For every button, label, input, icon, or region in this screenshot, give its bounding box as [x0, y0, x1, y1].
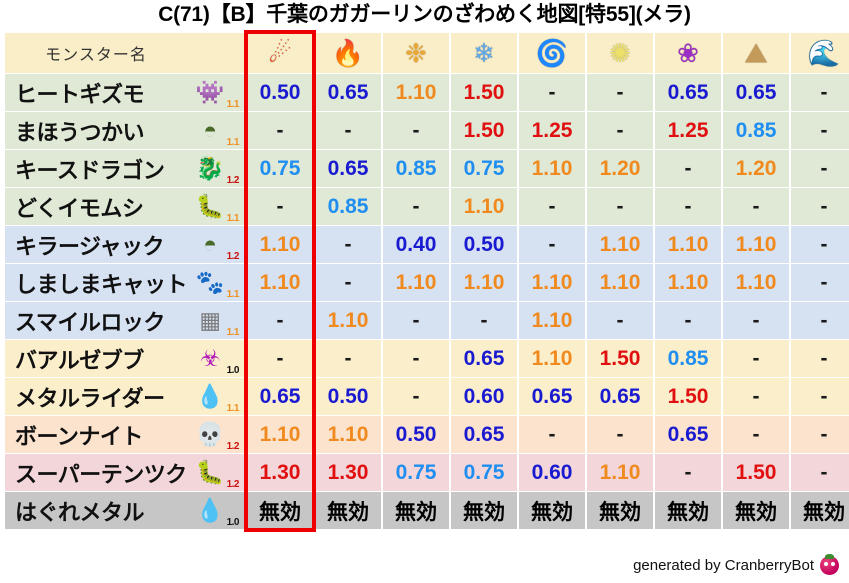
resistance-cell: 0.65: [315, 74, 381, 111]
resistance-cell: 1.25: [655, 112, 721, 149]
resistance-cell: -: [315, 226, 381, 263]
resistance-cell: 1.20: [723, 150, 789, 187]
resistance-cell: 1.10: [723, 264, 789, 301]
resistance-cell: 0.75: [383, 454, 449, 491]
resistance-cell: -: [519, 416, 585, 453]
resistance-cell: -: [791, 112, 849, 149]
resistance-cell: 1.10: [247, 416, 313, 453]
resistance-cell: 0.85: [315, 188, 381, 225]
resistance-cell: -: [791, 454, 849, 491]
resistance-cell: -: [247, 112, 313, 149]
resistance-cell: 1.30: [315, 454, 381, 491]
resistance-cell: -: [383, 378, 449, 415]
resistance-cell: -: [655, 188, 721, 225]
resistance-cell: 0.75: [247, 150, 313, 187]
resistance-cell: -: [655, 150, 721, 187]
resistance-cell: 1.50: [587, 340, 653, 377]
element-header-io[interactable]: ❉: [383, 33, 449, 73]
resistance-cell: 0.65: [519, 378, 585, 415]
footer: generated by CranberryBot: [633, 556, 839, 575]
resistance-cell: -: [383, 302, 449, 339]
monster-name-cell[interactable]: はぐれメタル💧1.0: [5, 492, 245, 529]
monster-multiplier: 1.0: [227, 518, 239, 528]
monster-name-cell[interactable]: メタルライダー💧1.1: [5, 378, 245, 415]
resistance-cell: 0.50: [451, 226, 517, 263]
resistance-cell: 無効: [383, 492, 449, 529]
resistance-cell: 1.10: [315, 302, 381, 339]
resistance-cell: -: [791, 302, 849, 339]
lightning-icon: ✺: [603, 36, 637, 70]
resistance-cell: 1.50: [655, 378, 721, 415]
explosion-icon: ❉: [399, 36, 433, 70]
resistance-cell: 1.10: [247, 226, 313, 263]
resistance-cell: 1.10: [451, 188, 517, 225]
monster-icon-box: 💀1.2: [193, 416, 239, 453]
resistance-cell: 0.65: [247, 378, 313, 415]
element-header-dein[interactable]: ✺: [587, 33, 653, 73]
resistance-cell: -: [655, 302, 721, 339]
table-row[interactable]: スーパーテンツク🐛1.21.301.300.750.750.601.10-1.5…: [5, 454, 849, 491]
resistance-cell: -: [655, 454, 721, 491]
resistance-cell: 0.65: [655, 74, 721, 111]
table-row[interactable]: バアルゼブブ☣1.0---0.651.101.500.85--: [5, 340, 849, 377]
resistance-cell: 0.40: [383, 226, 449, 263]
monster-icon-box: 👾1.1: [193, 74, 239, 111]
resistance-cell: 0.65: [723, 74, 789, 111]
element-header-jiba[interactable]: ⛰: [723, 33, 789, 73]
pawprint-icon: 🐾: [195, 267, 225, 297]
resistance-cell: 1.10: [383, 264, 449, 301]
table-header: モンスター名 ☄🔥❉❄🌀✺❀⛰🌊: [5, 33, 849, 73]
resistance-table-wrap: モンスター名 ☄🔥❉❄🌀✺❀⛰🌊 ヒートギズモ👾1.10.500.651.101…: [0, 32, 849, 530]
monster-multiplier: 1.1: [227, 404, 239, 414]
resistance-cell: -: [315, 112, 381, 149]
monster-icon-box: 💧1.1: [193, 378, 239, 415]
resistance-table: モンスター名 ☄🔥❉❄🌀✺❀⛰🌊 ヒートギズモ👾1.10.500.651.101…: [3, 32, 849, 530]
table-row[interactable]: はぐれメタル💧1.0無効無効無効無効無効無効無効無効無効: [5, 492, 849, 529]
monster-icon-box: ◓1.2: [193, 226, 239, 263]
monster-name-cell[interactable]: ヒートギズモ👾1.1: [5, 74, 245, 111]
monster-name-label: まほうつかい: [15, 115, 144, 147]
caterpillar-icon: 🐛: [195, 191, 225, 221]
caterpillar-icon: 🐛: [195, 457, 225, 487]
monster-name-label: ボーンナイト: [15, 419, 143, 451]
resistance-cell: 0.50: [247, 74, 313, 111]
table-row[interactable]: スマイルロック▦1.1-1.10--1.10----: [5, 302, 849, 339]
monster-name-cell[interactable]: しましまキャット🐾1.1: [5, 264, 245, 301]
monster-icon-box: 🐾1.1: [193, 264, 239, 301]
monster-name-label: スーパーテンツク: [15, 457, 187, 489]
resistance-cell: 無効: [791, 492, 849, 529]
monster-icon-box: 💧1.0: [193, 492, 239, 529]
resistance-cell: -: [519, 188, 585, 225]
dragon-icon: 🐉: [195, 153, 225, 183]
monster-name-label: スマイルロック: [15, 305, 165, 337]
monster-multiplier: 1.1: [227, 290, 239, 300]
monster-multiplier: 1.0: [227, 366, 239, 376]
monster-name-header: モンスター名: [5, 33, 245, 73]
resistance-cell: -: [315, 340, 381, 377]
resistance-cell: 0.65: [451, 340, 517, 377]
monster-multiplier: 1.1: [227, 100, 239, 110]
resistance-cell: 1.10: [451, 264, 517, 301]
resistance-cell: 0.85: [723, 112, 789, 149]
resistance-cell: -: [791, 74, 849, 111]
monster-name-label: どくイモムシ: [15, 191, 143, 223]
resistance-cell: 1.10: [723, 226, 789, 263]
resistance-cell: -: [383, 340, 449, 377]
resistance-cell: -: [587, 112, 653, 149]
darkflower-icon: ❀: [671, 36, 705, 70]
resistance-cell: -: [791, 150, 849, 187]
monster-name-cell[interactable]: ボーンナイト💀1.2: [5, 416, 245, 453]
table-row[interactable]: キラージャック◓1.21.10-0.400.50-1.101.101.10-: [5, 226, 849, 263]
resistance-cell: -: [383, 112, 449, 149]
resistance-cell: 1.10: [519, 340, 585, 377]
footer-text: generated by CranberryBot: [633, 557, 814, 574]
resistance-cell: -: [791, 416, 849, 453]
element-header-gira[interactable]: 🔥: [315, 33, 381, 73]
monster-icon-box: ▦1.1: [193, 302, 239, 339]
monster-icon-box: 🐛1.2: [193, 454, 239, 491]
skull-icon: 💀: [195, 419, 225, 449]
element-header-hyado[interactable]: ❄: [451, 33, 517, 73]
monster-name-label: キースドラゴン: [15, 153, 164, 185]
blue-slime-icon: 💧: [195, 495, 225, 525]
resistance-cell: -: [587, 188, 653, 225]
resistance-cell: 0.75: [451, 150, 517, 187]
monster-multiplier: 1.1: [227, 138, 239, 148]
element-header-mera[interactable]: ☄: [247, 33, 313, 73]
table-row[interactable]: しましまキャット🐾1.11.10-1.101.101.101.101.101.1…: [5, 264, 849, 301]
table-row[interactable]: どくイモムシ🐛1.1-0.85-1.10-----: [5, 188, 849, 225]
element-header-zeta[interactable]: 🌊: [791, 33, 849, 73]
resistance-cell: 無効: [247, 492, 313, 529]
resistance-cell: 0.60: [451, 378, 517, 415]
monster-icon-box: ◓1.1: [193, 112, 239, 149]
resistance-cell: 1.10: [655, 264, 721, 301]
demon-icon: ☣: [195, 343, 225, 373]
resistance-cell: -: [791, 188, 849, 225]
monster-icon-box: ☣1.0: [193, 340, 239, 377]
resistance-cell: 無効: [587, 492, 653, 529]
resistance-cell: 0.65: [655, 416, 721, 453]
table-row[interactable]: キースドラゴン🐉1.20.750.650.850.751.101.20-1.20…: [5, 150, 849, 187]
monster-name-label: バアルゼブブ: [15, 343, 144, 375]
monster-name-cell[interactable]: どくイモムシ🐛1.1: [5, 188, 245, 225]
resistance-cell: -: [723, 416, 789, 453]
monster-name-cell[interactable]: キラージャック◓1.2: [5, 226, 245, 263]
monster-name-cell[interactable]: キースドラゴン🐉1.2: [5, 150, 245, 187]
monster-multiplier: 1.2: [227, 176, 239, 186]
earth-icon: ⛰: [739, 36, 773, 70]
resistance-cell: 0.50: [315, 378, 381, 415]
resistance-cell: 無効: [315, 492, 381, 529]
element-header-bagi[interactable]: 🌀: [519, 33, 585, 73]
monster-name-cell[interactable]: バアルゼブブ☣1.0: [5, 340, 245, 377]
monster-multiplier: 1.2: [227, 442, 239, 452]
resistance-cell: 1.10: [587, 264, 653, 301]
table-row[interactable]: メタルライダー💧1.10.650.50-0.600.650.651.50--: [5, 378, 849, 415]
resistance-cell: -: [791, 378, 849, 415]
page-title: C(71)【B】千葉のガガーリンのざわめく地図[特55](メラ): [0, 0, 849, 32]
resistance-cell: 1.20: [587, 150, 653, 187]
resistance-cell: 0.85: [655, 340, 721, 377]
blue-slime-icon: 💧: [195, 381, 225, 411]
wave-icon: 🌊: [807, 36, 841, 70]
monster-icon-box: 🐉1.2: [193, 150, 239, 187]
monster-name-label: キラージャック: [15, 229, 164, 261]
resistance-cell: 0.65: [587, 378, 653, 415]
resistance-cell: -: [791, 264, 849, 301]
monster-multiplier: 1.2: [227, 252, 239, 262]
resistance-cell: 無効: [655, 492, 721, 529]
monster-name-cell[interactable]: スーパーテンツク🐛1.2: [5, 454, 245, 491]
monster-name-label: メタルライダー: [15, 381, 165, 413]
resistance-cell: -: [519, 74, 585, 111]
resistance-cell: -: [383, 188, 449, 225]
tornado-icon: 🌀: [535, 36, 569, 70]
resistance-cell: -: [247, 340, 313, 377]
element-header-dorума[interactable]: ❀: [655, 33, 721, 73]
resistance-cell: 1.25: [519, 112, 585, 149]
resistance-cell: 1.10: [247, 264, 313, 301]
monster-multiplier: 1.1: [227, 214, 239, 224]
resistance-cell: -: [587, 302, 653, 339]
resistance-cell: 1.10: [383, 74, 449, 111]
resistance-cell: 0.85: [383, 150, 449, 187]
resistance-cell: -: [723, 188, 789, 225]
monster-name-label: はぐれメタル: [15, 495, 144, 527]
fireball-icon: ☄: [263, 36, 297, 70]
resistance-cell: 1.10: [519, 150, 585, 187]
resistance-cell: 1.50: [723, 454, 789, 491]
monster-multiplier: 1.2: [227, 480, 239, 490]
resistance-cell: 0.60: [519, 454, 585, 491]
slime-hat-icon: ◓: [195, 115, 225, 145]
resistance-cell: -: [315, 264, 381, 301]
resistance-cell: 1.10: [587, 226, 653, 263]
resistance-cell: 1.10: [519, 302, 585, 339]
resistance-cell: -: [247, 302, 313, 339]
resistance-cell: -: [587, 416, 653, 453]
table-body: ヒートギズモ👾1.10.500.651.101.50--0.650.65-まほう…: [5, 74, 849, 529]
table-row[interactable]: ヒートギズモ👾1.10.500.651.101.50--0.650.65-: [5, 74, 849, 111]
table-row[interactable]: ボーンナイト💀1.21.101.100.500.65--0.65--: [5, 416, 849, 453]
monster-multiplier: 1.1: [227, 328, 239, 338]
resistance-cell: -: [451, 302, 517, 339]
resistance-cell: 1.10: [655, 226, 721, 263]
resistance-cell: -: [723, 340, 789, 377]
monster-icon-box: 🐛1.1: [193, 188, 239, 225]
brickwall-icon: ▦: [195, 305, 225, 335]
resistance-cell: 1.10: [587, 454, 653, 491]
resistance-cell: -: [791, 340, 849, 377]
monster-name-label: しましまキャット: [15, 267, 187, 299]
resistance-cell: 0.75: [451, 454, 517, 491]
cranberry-icon: [820, 556, 839, 575]
resistance-cell: -: [723, 378, 789, 415]
resistance-cell: 無効: [519, 492, 585, 529]
resistance-cell: -: [519, 226, 585, 263]
resistance-cell: 1.10: [519, 264, 585, 301]
resistance-cell: 無効: [723, 492, 789, 529]
resistance-cell: 0.65: [451, 416, 517, 453]
flame-icon: 🔥: [331, 36, 365, 70]
resistance-cell: 0.65: [315, 150, 381, 187]
resistance-cell: -: [723, 302, 789, 339]
resistance-cell: 1.50: [451, 74, 517, 111]
resistance-cell: 1.30: [247, 454, 313, 491]
ghost-icon: 👾: [195, 77, 225, 107]
snowflake-icon: ❄: [467, 36, 501, 70]
header-row: モンスター名 ☄🔥❉❄🌀✺❀⛰🌊: [5, 33, 849, 73]
resistance-cell: -: [247, 188, 313, 225]
resistance-cell: 1.50: [451, 112, 517, 149]
monster-name-cell[interactable]: まほうつかい◓1.1: [5, 112, 245, 149]
slime-hat-icon: ◓: [195, 229, 225, 259]
monster-name-label: ヒートギズモ: [15, 77, 144, 109]
table-row[interactable]: まほうつかい◓1.1---1.501.25-1.250.85-: [5, 112, 849, 149]
resistance-cell: 無効: [451, 492, 517, 529]
monster-name-cell[interactable]: スマイルロック▦1.1: [5, 302, 245, 339]
resistance-cell: 0.50: [383, 416, 449, 453]
resistance-cell: -: [587, 74, 653, 111]
resistance-cell: 1.10: [315, 416, 381, 453]
resistance-cell: -: [791, 226, 849, 263]
